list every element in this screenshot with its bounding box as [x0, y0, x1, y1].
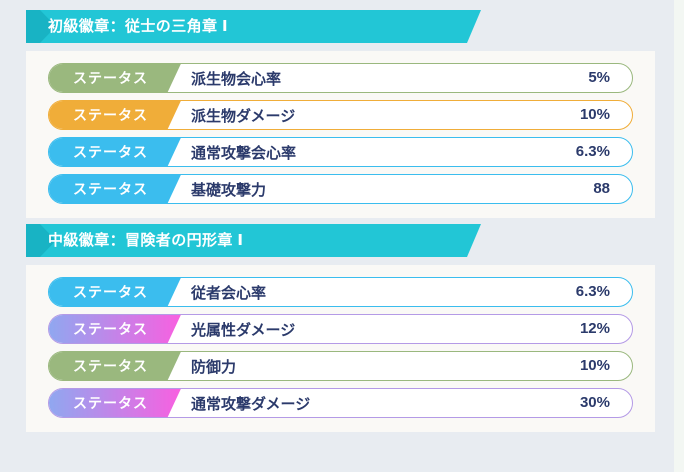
section-banner-intermediate: 中級徽章：冒険者の円形章 Ⅰ: [26, 224, 481, 257]
stat-name: 派生物ダメージ: [191, 105, 295, 126]
table-row[interactable]: ステータス 従者会心率 6.3%: [48, 277, 633, 307]
stat-value: 5%: [588, 64, 610, 91]
stat-name: 通常攻撃会心率: [191, 142, 296, 163]
section-title: 中級徽章：冒険者の円形章 Ⅰ: [48, 224, 243, 257]
section-title: 初級徽章：従士の三角章 Ⅰ: [48, 10, 228, 43]
status-badge: ステータス: [48, 277, 182, 307]
stat-name: 従者会心率: [191, 282, 266, 303]
stat-name: 基礎攻撃力: [191, 179, 266, 200]
section-banner-beginner: 初級徽章：従士の三角章 Ⅰ: [26, 10, 481, 43]
stat-value: 88: [593, 175, 610, 202]
status-badge-label: ステータス: [73, 319, 148, 339]
status-badge: ステータス: [48, 314, 182, 344]
stat-value: 10%: [580, 352, 610, 379]
stat-value: 12%: [580, 315, 610, 342]
table-row[interactable]: ステータス 基礎攻撃力 88: [48, 174, 633, 204]
status-badge-label: ステータス: [73, 356, 148, 376]
table-row[interactable]: ステータス 防御力 10%: [48, 351, 633, 381]
stat-value: 30%: [580, 389, 610, 416]
status-badge-label: ステータス: [73, 142, 148, 162]
table-row[interactable]: ステータス 通常攻撃ダメージ 30%: [48, 388, 633, 418]
stat-name: 派生物会心率: [191, 68, 281, 89]
table-row[interactable]: ステータス 派生物ダメージ 10%: [48, 100, 633, 130]
status-badge: ステータス: [48, 137, 182, 167]
stat-card-intermediate: ステータス 従者会心率 6.3% ステータス 光属性ダメージ 12% ステータス…: [26, 265, 655, 432]
badge-section-beginner: 初級徽章：従士の三角章 Ⅰ ステータス 派生物会心率 5% ステータス 派生物ダ…: [0, 10, 684, 218]
stat-value: 6.3%: [576, 138, 610, 165]
stat-value: 6.3%: [576, 278, 610, 305]
badge-section-intermediate: 中級徽章：冒険者の円形章 Ⅰ ステータス 従者会心率 6.3% ステータス 光属…: [0, 224, 684, 432]
status-badge: ステータス: [48, 351, 182, 381]
status-badge-label: ステータス: [73, 179, 148, 199]
stat-name: 防御力: [191, 356, 236, 377]
table-row[interactable]: ステータス 通常攻撃会心率 6.3%: [48, 137, 633, 167]
status-badge: ステータス: [48, 100, 182, 130]
status-badge-label: ステータス: [73, 393, 148, 413]
status-badge: ステータス: [48, 63, 182, 93]
table-row[interactable]: ステータス 派生物会心率 5%: [48, 63, 633, 93]
stat-value: 10%: [580, 101, 610, 128]
status-badge: ステータス: [48, 388, 182, 418]
stat-card-beginner: ステータス 派生物会心率 5% ステータス 派生物ダメージ 10% ステータス …: [26, 51, 655, 218]
stat-name: 通常攻撃ダメージ: [191, 393, 310, 414]
status-badge-label: ステータス: [73, 105, 148, 125]
status-badge: ステータス: [48, 174, 182, 204]
badge-stats-page: 初級徽章：従士の三角章 Ⅰ ステータス 派生物会心率 5% ステータス 派生物ダ…: [0, 0, 684, 472]
table-row[interactable]: ステータス 光属性ダメージ 12%: [48, 314, 633, 344]
stat-name: 光属性ダメージ: [191, 319, 295, 340]
status-badge-label: ステータス: [73, 282, 148, 302]
status-badge-label: ステータス: [73, 68, 148, 88]
